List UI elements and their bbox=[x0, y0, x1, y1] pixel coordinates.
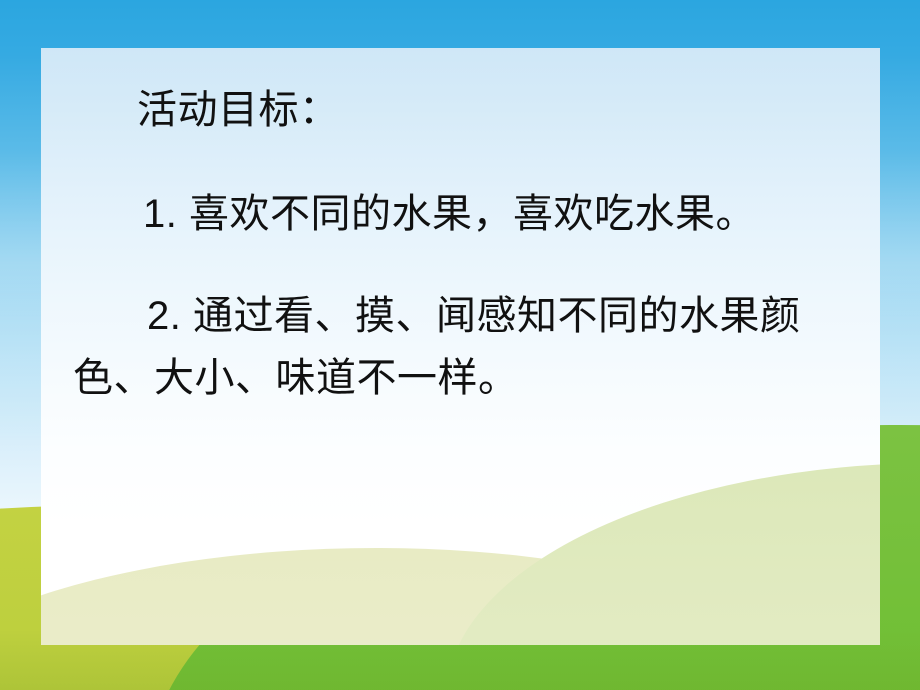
slide-canvas: 活动目标： 1. 喜欢不同的水果，喜欢吃水果。 2. 通过看、摸、闻感知不同的水… bbox=[0, 0, 920, 690]
text-block: 活动目标： 1. 喜欢不同的水果，喜欢吃水果。 2. 通过看、摸、闻感知不同的水… bbox=[41, 48, 880, 398]
objective-item-1: 1. 喜欢不同的水果，喜欢吃水果。 bbox=[143, 194, 870, 234]
content-panel: 活动目标： 1. 喜欢不同的水果，喜欢吃水果。 2. 通过看、摸、闻感知不同的水… bbox=[41, 48, 880, 645]
slide-title: 活动目标： bbox=[137, 90, 870, 130]
objective-item-2-line-2: 色、大小、味道不一样。 bbox=[73, 358, 870, 398]
objective-item-2-line-1: 2. 通过看、摸、闻感知不同的水果颜 bbox=[147, 296, 870, 336]
